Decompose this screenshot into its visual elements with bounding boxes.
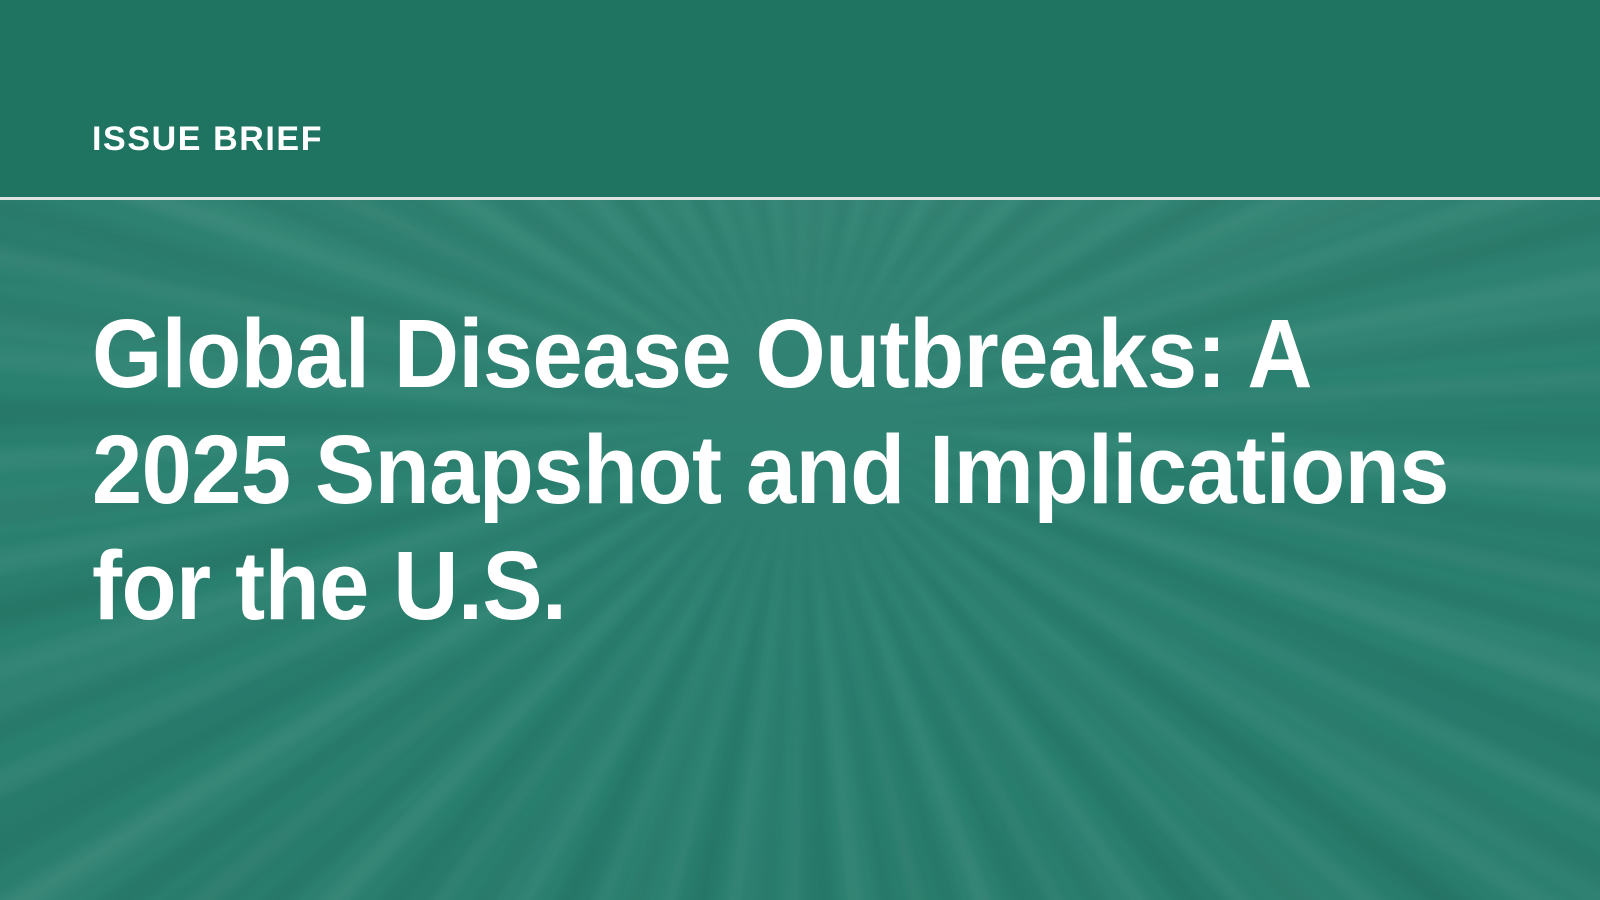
eyebrow-label: ISSUE BRIEF xyxy=(92,119,323,159)
headline-line-3: for the U.S. xyxy=(92,528,1413,644)
headline-block: Global Disease Outbreaks: A 2025 Snapsho… xyxy=(92,296,1512,644)
headline-line-1: Global Disease Outbreaks: A xyxy=(92,296,1413,412)
issue-brief-hero-card: ISSUE BRIEF Global Disease Outbreaks: A … xyxy=(0,0,1600,900)
eyebrow-band: ISSUE BRIEF xyxy=(0,0,1600,197)
headline-line-2: 2025 Snapshot and Implications xyxy=(92,412,1413,528)
page-title: Global Disease Outbreaks: A 2025 Snapsho… xyxy=(92,296,1413,644)
header-divider xyxy=(0,197,1600,200)
